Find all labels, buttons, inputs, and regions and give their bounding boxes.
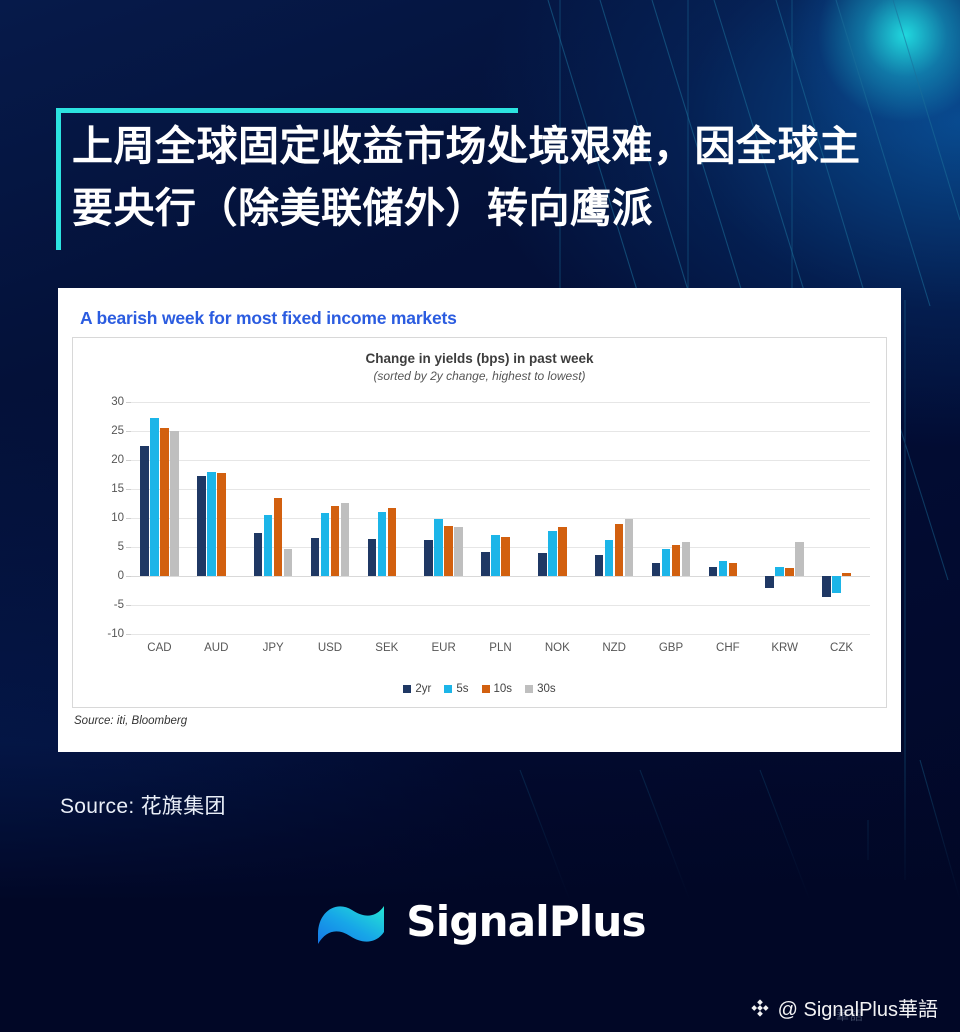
bar-slot xyxy=(140,402,149,634)
bar-slot xyxy=(227,402,236,634)
signalplus-wave-mark-icon xyxy=(314,888,390,954)
y-axis-tick-label: 10 xyxy=(111,512,124,524)
bar-nok-10s xyxy=(558,527,567,576)
bar-slot xyxy=(491,402,500,634)
legend-label: 2yr xyxy=(415,683,431,695)
bar-slot xyxy=(775,402,784,634)
bar-nzd-10s xyxy=(615,524,624,576)
x-axis-tick-label: EUR xyxy=(415,642,472,654)
x-axis-tick-label: CHF xyxy=(699,642,756,654)
bar-cad-5s xyxy=(150,418,159,576)
bar-slot xyxy=(785,402,794,634)
y-axis-tick-label: -5 xyxy=(114,599,124,611)
bar-nzd-2yr xyxy=(595,555,604,576)
legend-label: 10s xyxy=(494,683,513,695)
bar-usd-30s xyxy=(341,503,350,576)
bar-slot xyxy=(388,402,397,634)
bar-group-bars xyxy=(302,402,359,634)
bar-cad-10s xyxy=(160,428,169,576)
bar-slot xyxy=(160,402,169,634)
headline-accent-top-rule xyxy=(56,108,518,113)
bar-group-bars xyxy=(472,402,529,634)
bar-czk-5s xyxy=(832,576,841,593)
bar-slot xyxy=(321,402,330,634)
bar-group-cad: CAD xyxy=(131,402,188,634)
background-bottom-fade xyxy=(0,742,960,1032)
bar-group-pln: PLN xyxy=(472,402,529,634)
chart-card: A bearish week for most fixed income mar… xyxy=(58,288,901,752)
page-title: 上周全球固定收益市场处境艰难，因全球主要央行（除美联储外）转向鹰派 xyxy=(72,116,884,239)
bar-slot xyxy=(615,402,624,634)
chart-legend: 2yr5s10s30s xyxy=(73,683,886,695)
bar-slot xyxy=(481,402,490,634)
bar-slot xyxy=(538,402,547,634)
legend-label: 5s xyxy=(456,683,468,695)
bar-czk-10s xyxy=(842,573,851,576)
bar-group-bars xyxy=(188,402,245,634)
bar-group-bars xyxy=(699,402,756,634)
bar-slot xyxy=(842,402,851,634)
bar-cad-30s xyxy=(170,431,179,576)
bar-eur-30s xyxy=(454,527,463,576)
bar-slot xyxy=(254,402,263,634)
bar-jpy-10s xyxy=(274,498,283,576)
bar-slot xyxy=(264,402,273,634)
bar-aud-2yr xyxy=(197,476,206,576)
page-source-label: Source: 花旗集团 xyxy=(60,790,226,820)
bar-group-bars xyxy=(756,402,813,634)
bar-slot xyxy=(197,402,206,634)
bar-slot xyxy=(795,402,804,634)
bar-nzd-30s xyxy=(625,519,634,576)
bar-usd-5s xyxy=(321,513,330,576)
legend-item-5s: 5s xyxy=(444,683,468,695)
bar-group-jpy: JPY xyxy=(245,402,302,634)
x-axis-tick-label: GBP xyxy=(643,642,700,654)
bar-chf-5s xyxy=(719,561,728,576)
bar-sek-10s xyxy=(388,508,397,576)
chart-subtitle: (sorted by 2y change, highest to lowest) xyxy=(73,369,886,383)
bar-slot xyxy=(682,402,691,634)
bar-nok-2yr xyxy=(538,553,547,576)
bar-group-bars xyxy=(813,402,870,634)
bar-slot xyxy=(331,402,340,634)
x-axis-tick-label: USD xyxy=(302,642,359,654)
bar-pln-5s xyxy=(491,535,500,576)
bar-slot xyxy=(568,402,577,634)
brand-logo-text: SignalPlus xyxy=(406,897,645,946)
bar-gbp-10s xyxy=(672,545,681,576)
x-axis-tick-label: NZD xyxy=(586,642,643,654)
bar-slot xyxy=(434,402,443,634)
bar-pln-10s xyxy=(501,537,510,576)
bar-cad-2yr xyxy=(140,446,149,577)
bar-krw-10s xyxy=(785,568,794,576)
bar-gbp-30s xyxy=(682,542,691,576)
bar-group-czk: CZK xyxy=(813,402,870,634)
bar-slot xyxy=(501,402,510,634)
gridline--10: -10 xyxy=(131,634,870,635)
bar-slot xyxy=(207,402,216,634)
bar-slot xyxy=(424,402,433,634)
binance-diamond-icon xyxy=(749,997,771,1019)
plot-area: 302520151050-5-10 CADAUDJPYUSDSEKEURPLNN… xyxy=(131,402,870,634)
bar-slot xyxy=(311,402,320,634)
bar-slot xyxy=(548,402,557,634)
y-axis-tick-label: -10 xyxy=(107,628,124,640)
bar-czk-2yr xyxy=(822,576,831,597)
y-axis-tick-label: 5 xyxy=(118,541,124,553)
bar-slot xyxy=(739,402,748,634)
bar-slot xyxy=(852,402,861,634)
bar-aud-10s xyxy=(217,473,226,576)
bar-group-nzd: NZD xyxy=(586,402,643,634)
x-axis-tick-label: PLN xyxy=(472,642,529,654)
bar-chf-2yr xyxy=(709,567,718,576)
chart-card-title: A bearish week for most fixed income mar… xyxy=(80,308,887,329)
y-axis-tick-label: 15 xyxy=(111,483,124,495)
bar-slot xyxy=(765,402,774,634)
bar-group-bars xyxy=(529,402,586,634)
x-axis-tick-label: CZK xyxy=(813,642,870,654)
x-axis-tick-label: SEK xyxy=(358,642,415,654)
bar-slot xyxy=(511,402,520,634)
bar-gbp-2yr xyxy=(652,563,661,576)
bar-group-gbp: GBP xyxy=(643,402,700,634)
bar-slot xyxy=(595,402,604,634)
headline-accent-left-rule xyxy=(56,108,61,250)
y-axis-tick-label: 20 xyxy=(111,454,124,466)
bar-group-bars xyxy=(131,402,188,634)
bar-sek-2yr xyxy=(368,539,377,576)
x-axis-tick-label: AUD xyxy=(188,642,245,654)
bar-group-bars xyxy=(358,402,415,634)
bar-slot xyxy=(274,402,283,634)
bar-slot xyxy=(558,402,567,634)
bar-group-sek: SEK xyxy=(358,402,415,634)
bar-group-eur: EUR xyxy=(415,402,472,634)
bar-nzd-5s xyxy=(605,540,614,576)
bar-slot xyxy=(170,402,179,634)
bar-slot xyxy=(150,402,159,634)
bar-slot xyxy=(709,402,718,634)
watermark: @ SignalPlus華語 xyxy=(749,993,938,1022)
bar-group-nok: NOK xyxy=(529,402,586,634)
y-axis-tick-mark xyxy=(126,634,131,635)
brand-logo: SignalPlus xyxy=(0,888,960,954)
bar-slot xyxy=(217,402,226,634)
bar-slot xyxy=(832,402,841,634)
bar-krw-5s xyxy=(775,567,784,576)
bar-jpy-2yr xyxy=(254,533,263,576)
chart-title: Change in yields (bps) in past week xyxy=(73,351,886,366)
bar-krw-2yr xyxy=(765,576,774,588)
bar-slot xyxy=(625,402,634,634)
legend-swatch-10s xyxy=(482,685,490,693)
bar-slot xyxy=(378,402,387,634)
bar-slot xyxy=(368,402,377,634)
legend-item-2yr: 2yr xyxy=(403,683,431,695)
bar-eur-5s xyxy=(434,519,443,576)
bar-group-usd: USD xyxy=(302,402,359,634)
y-axis-tick-label: 25 xyxy=(111,425,124,437)
bar-nok-5s xyxy=(548,531,557,576)
bar-slot xyxy=(398,402,407,634)
bar-group-bars xyxy=(415,402,472,634)
legend-swatch-5s xyxy=(444,685,452,693)
bar-usd-2yr xyxy=(311,538,320,576)
legend-label: 30s xyxy=(537,683,556,695)
bar-eur-2yr xyxy=(424,540,433,576)
bar-eur-10s xyxy=(444,526,453,576)
chart-figure: Change in yields (bps) in past week (sor… xyxy=(72,337,887,708)
bar-group-aud: AUD xyxy=(188,402,245,634)
bar-group-bars xyxy=(643,402,700,634)
x-axis-tick-label: JPY xyxy=(245,642,302,654)
bar-slot xyxy=(672,402,681,634)
bar-slot xyxy=(719,402,728,634)
bar-slot xyxy=(454,402,463,634)
y-axis-tick-label: 0 xyxy=(118,570,124,582)
bar-series-layer: CADAUDJPYUSDSEKEURPLNNOKNZDGBPCHFKRWCZK xyxy=(131,402,870,634)
bar-slot xyxy=(729,402,738,634)
bar-aud-5s xyxy=(207,472,216,576)
bar-slot xyxy=(284,402,293,634)
bar-group-bars xyxy=(586,402,643,634)
bar-slot xyxy=(662,402,671,634)
legend-swatch-30s xyxy=(525,685,533,693)
bar-krw-30s xyxy=(795,542,804,576)
bar-sek-5s xyxy=(378,512,387,576)
bar-slot xyxy=(822,402,831,634)
bar-group-krw: KRW xyxy=(756,402,813,634)
bar-usd-10s xyxy=(331,506,340,576)
bar-jpy-5s xyxy=(264,515,273,576)
legend-swatch-2yr xyxy=(403,685,411,693)
x-axis-tick-label: KRW xyxy=(756,642,813,654)
bar-group-chf: CHF xyxy=(699,402,756,634)
watermark-text: @ SignalPlus華語 xyxy=(778,993,938,1022)
x-axis-tick-label: CAD xyxy=(131,642,188,654)
bar-chf-10s xyxy=(729,563,738,576)
bar-slot xyxy=(652,402,661,634)
chart-source-note: Source: iti, Bloomberg xyxy=(74,715,887,727)
legend-item-10s: 10s xyxy=(482,683,513,695)
bar-slot xyxy=(605,402,614,634)
x-axis-tick-label: NOK xyxy=(529,642,586,654)
bar-slot xyxy=(444,402,453,634)
legend-item-30s: 30s xyxy=(525,683,556,695)
bar-pln-2yr xyxy=(481,552,490,576)
bar-jpy-30s xyxy=(284,549,293,576)
bar-slot xyxy=(341,402,350,634)
y-axis-tick-label: 30 xyxy=(111,396,124,408)
bar-gbp-5s xyxy=(662,549,671,576)
plot-wrapper: 302520151050-5-10 CADAUDJPYUSDSEKEURPLNN… xyxy=(73,402,886,664)
bar-group-bars xyxy=(245,402,302,634)
